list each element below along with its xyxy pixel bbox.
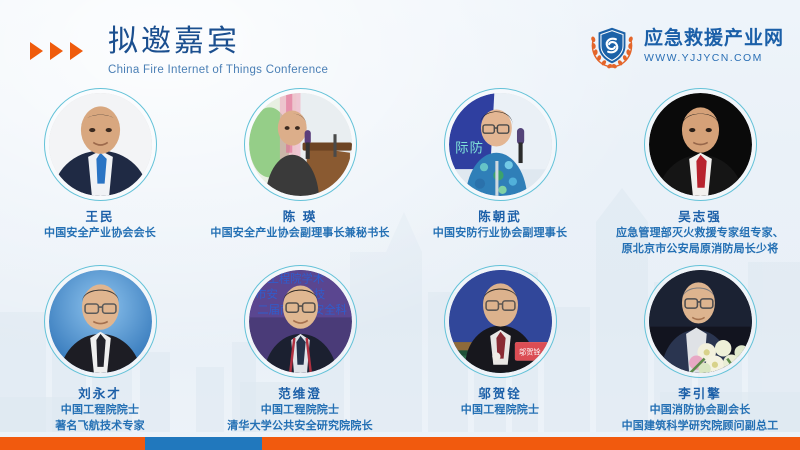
slide-root: 拟邀嘉宾 China Fire Internet of Things Confe… — [0, 0, 800, 450]
triangle-right-icon — [30, 42, 43, 60]
guest-name: 范维澄 — [227, 386, 373, 402]
brand-name: 应急救援产业网 — [644, 28, 784, 49]
guest-grid: 王民 中国安全产业协会会长 — [0, 88, 800, 434]
guest-name: 陈 瑛 — [210, 209, 389, 225]
svg-text:防: 防 — [469, 141, 482, 156]
shield-laurel-logo-icon — [588, 22, 636, 70]
svg-text:市安: 市安 — [255, 287, 278, 301]
avatar-ring — [44, 265, 157, 378]
avatar-ring: 工程院学术 市安 沿技 二届南 安全科 — [244, 265, 357, 378]
guest-caption: 邬贺铨 中国工程院院士 — [461, 386, 539, 418]
guest-card[interactable]: 工程院学术 市安 沿技 二届南 安全科 — [200, 265, 400, 434]
avatar-ring: 际 防 — [444, 88, 557, 201]
guest-role: 应急管理部灭火救援专家组专家、 — [616, 226, 784, 241]
guest-row: 刘永才 中国工程院院士 著名飞航技术专家 工程院 — [0, 265, 800, 434]
guest-caption: 刘永才 中国工程院院士 著名飞航技术专家 — [55, 386, 145, 434]
avatar — [49, 93, 152, 196]
guest-name: 李引擎 — [622, 386, 779, 402]
guest-name: 刘永才 — [55, 386, 145, 402]
triangle-right-icon — [70, 42, 83, 60]
avatar — [49, 270, 152, 373]
arrow-decoration — [30, 42, 83, 60]
guest-card[interactable]: 际 防 — [400, 88, 600, 257]
guest-card[interactable]: 李引擎 中国消防协会副会长 中国建筑科学研究院顾问副总工 — [600, 265, 800, 434]
guest-role: 原北京市公安局原消防局长少将 — [616, 242, 784, 257]
svg-text:际: 际 — [455, 141, 468, 156]
triangle-right-icon — [50, 42, 63, 60]
brand-url: WWW.YJJYCN.COM — [644, 52, 784, 64]
avatar-ring — [644, 88, 757, 201]
avatar-ring — [244, 88, 357, 201]
guest-role: 著名飞航技术专家 — [55, 419, 145, 434]
brand-logo[interactable]: 应急救援产业网 WWW.YJJYCN.COM — [588, 22, 784, 70]
svg-text:邬贺铨: 邬贺铨 — [519, 347, 541, 356]
page-title-en: China Fire Internet of Things Conference — [108, 64, 328, 76]
guest-role: 中国安防行业协会副理事长 — [433, 226, 567, 241]
guest-caption: 陈朝武 中国安防行业协会副理事长 — [433, 209, 567, 241]
guest-name: 王民 — [44, 209, 156, 225]
avatar — [649, 93, 752, 196]
footer-bar-accent — [145, 437, 262, 450]
avatar-ring — [44, 88, 157, 201]
guest-role: 中国消防协会副会长 — [622, 403, 779, 418]
avatar: 邬贺铨 — [449, 270, 552, 373]
guest-card[interactable]: 王民 中国安全产业协会会长 — [0, 88, 200, 257]
avatar-ring: 邬贺铨 — [444, 265, 557, 378]
svg-text:工程院学术: 工程院学术 — [267, 271, 324, 285]
header: 拟邀嘉宾 China Fire Internet of Things Confe… — [0, 0, 800, 90]
avatar — [649, 270, 752, 373]
guest-caption: 李引擎 中国消防协会副会长 中国建筑科学研究院顾问副总工 — [622, 386, 779, 434]
guest-caption: 王民 中国安全产业协会会长 — [44, 209, 156, 241]
guest-role: 中国安全产业协会副理事长兼秘书长 — [210, 226, 389, 241]
guest-role: 清华大学公共安全研究院院长 — [227, 419, 373, 434]
page-title: 拟邀嘉宾 China Fire Internet of Things Confe… — [108, 25, 328, 76]
guest-role: 中国工程院院士 — [227, 403, 373, 418]
avatar: 际 防 — [449, 93, 552, 196]
svg-text:安全科: 安全科 — [312, 302, 346, 316]
guest-row: 王民 中国安全产业协会会长 — [0, 88, 800, 257]
guest-caption: 吴志强 应急管理部灭火救援专家组专家、 原北京市公安局原消防局长少将 — [616, 209, 784, 257]
guest-role: 中国安全产业协会会长 — [44, 226, 156, 241]
guest-caption: 陈 瑛 中国安全产业协会副理事长兼秘书长 — [210, 209, 389, 241]
guest-card[interactable]: 陈 瑛 中国安全产业协会副理事长兼秘书长 — [200, 88, 400, 257]
guest-role: 中国工程院院士 — [461, 403, 539, 418]
guest-name: 邬贺铨 — [461, 386, 539, 402]
guest-role: 中国工程院院士 — [55, 403, 145, 418]
page-title-cn: 拟邀嘉宾 — [108, 25, 328, 59]
footer-bar — [0, 437, 800, 450]
guest-card[interactable]: 邬贺铨 邬贺铨 中国工程院院士 — [400, 265, 600, 434]
guest-name: 吴志强 — [616, 209, 784, 225]
avatar — [249, 93, 352, 196]
guest-name: 陈朝武 — [433, 209, 567, 225]
avatar: 工程院学术 市安 沿技 二届南 安全科 — [249, 270, 352, 373]
guest-role: 中国建筑科学研究院顾问副总工 — [622, 419, 779, 434]
guest-caption: 范维澄 中国工程院院士 清华大学公共安全研究院院长 — [227, 386, 373, 434]
guest-card[interactable]: 刘永才 中国工程院院士 著名飞航技术专家 — [0, 265, 200, 434]
avatar-ring — [644, 265, 757, 378]
guest-card[interactable]: 吴志强 应急管理部灭火救援专家组专家、 原北京市公安局原消防局长少将 — [600, 88, 800, 257]
